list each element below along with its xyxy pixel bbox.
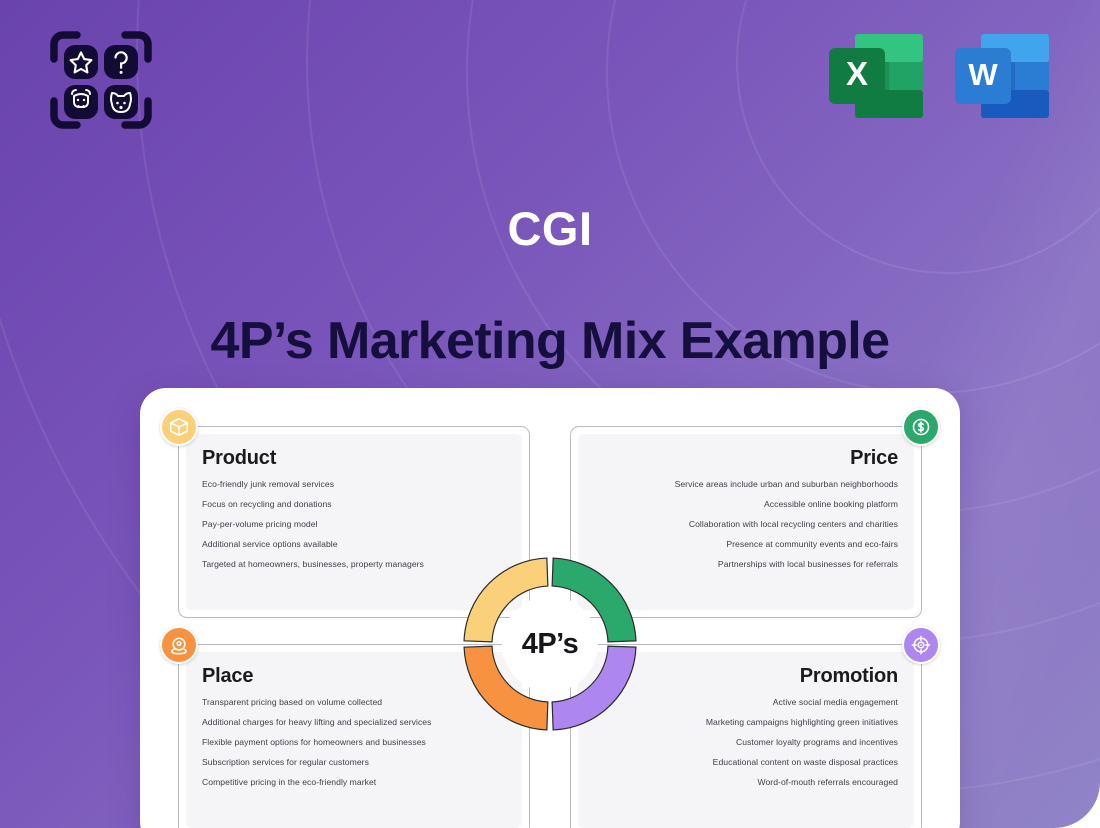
logo-tile-cow: [64, 85, 98, 119]
quadrant-product-list: Eco-friendly junk removal services Focus…: [202, 480, 506, 569]
list-item: Subscription services for regular custom…: [202, 758, 506, 767]
list-item: Service areas include urban and suburban…: [594, 480, 898, 489]
poster-canvas: X W CGI 4P’s Marketing Mix Example: [0, 0, 1100, 828]
quadrant-price-title: Price: [594, 447, 898, 469]
list-item: Additional charges for heavy lifting and…: [202, 718, 506, 727]
list-item: Pay-per-volume pricing model: [202, 520, 506, 529]
list-item: Eco-friendly junk removal services: [202, 480, 506, 489]
quadrant-place-list: Transparent pricing based on volume coll…: [202, 698, 506, 787]
word-icon[interactable]: W: [951, 28, 1053, 129]
quadrant-place-title: Place: [202, 665, 506, 687]
list-item: Accessible online booking platform: [594, 500, 898, 509]
list-item: Presence at community events and eco-fai…: [594, 540, 898, 549]
page-title: 4P’s Marketing Mix Example: [0, 312, 1100, 372]
list-item: Transparent pricing based on volume coll…: [202, 698, 506, 707]
excel-icon-letter: X: [846, 55, 868, 92]
list-item: Competitive pricing in the eco-friendly …: [202, 778, 506, 787]
excel-icon[interactable]: X: [825, 28, 927, 129]
target-crosshair-icon: [902, 626, 940, 664]
quadrant-promotion-title: Promotion: [594, 665, 898, 687]
matrix-card: Product Eco-friendly junk removal servic…: [140, 388, 960, 828]
logo-tile-dog: [104, 85, 138, 119]
donut-center-label: 4P’s: [522, 628, 579, 661]
list-item: Additional service options available: [202, 540, 506, 549]
list-item: Active social media engagement: [594, 698, 898, 707]
list-item: Customer loyalty programs and incentives: [594, 738, 898, 747]
quadrant-price-list: Service areas include urban and suburban…: [594, 480, 898, 569]
cgi-quad-icon-logo[interactable]: [47, 28, 155, 132]
location-pin-icon: [160, 626, 198, 664]
list-item: Targeted at homeowners, businesses, prop…: [202, 560, 506, 569]
quadrant-promotion-list: Active social media engagement Marketing…: [594, 698, 898, 787]
logo-tile-question: [104, 45, 138, 79]
quadrant-product-title: Product: [202, 447, 506, 469]
list-item: Focus on recycling and donations: [202, 500, 506, 509]
list-item: Flexible payment options for homeowners …: [202, 738, 506, 747]
list-item: Partnerships with local businesses for r…: [594, 560, 898, 569]
word-icon-letter: W: [968, 57, 998, 92]
package-box-icon: [160, 408, 198, 446]
dollar-coin-icon: [902, 408, 940, 446]
donut-center-hub: 4P’s: [502, 596, 598, 692]
list-item: Educational content on waste disposal pr…: [594, 758, 898, 767]
brand-eyebrow: CGI: [0, 205, 1100, 252]
list-item: Collaboration with local recycling cente…: [594, 520, 898, 529]
list-item: Word-of-mouth referrals encouraged: [594, 778, 898, 787]
four-p-matrix: Product Eco-friendly junk removal servic…: [178, 426, 922, 828]
office-app-icons: X W: [825, 28, 1053, 129]
four-p-donut-chart: 4P’s: [462, 556, 638, 732]
list-item: Marketing campaigns highlighting green i…: [594, 718, 898, 727]
logo-tile-star: [64, 45, 98, 79]
